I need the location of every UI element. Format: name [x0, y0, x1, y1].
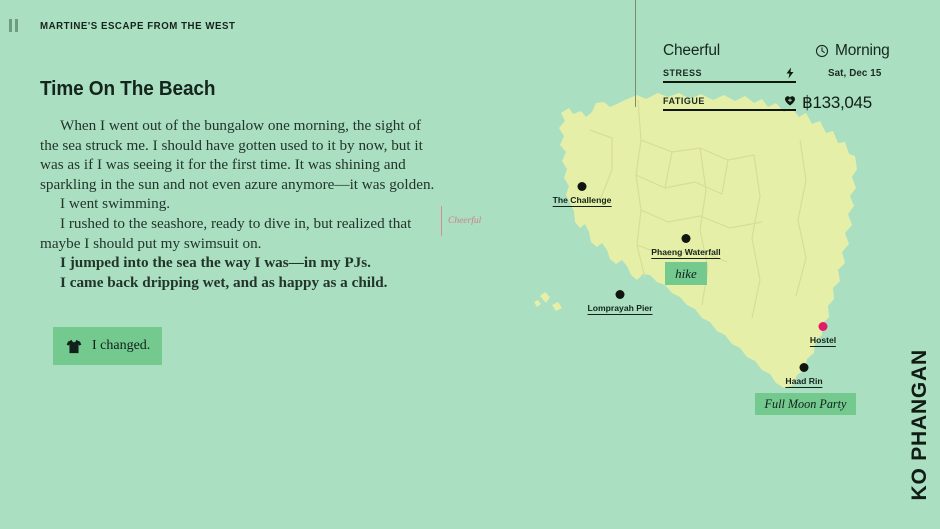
app-title: MARTINE'S ESCAPE FROM THE WEST	[40, 20, 235, 32]
map-poi-label[interactable]: Lomprayah Pier	[588, 303, 653, 315]
story-paragraph: When I went out of the bungalow one morn…	[40, 116, 440, 194]
map-poi-label[interactable]: Hostel	[810, 335, 836, 347]
map-poi-label[interactable]: Haad Rin	[785, 376, 822, 388]
time-of-day: Morning	[835, 42, 890, 60]
top-bar: MARTINE'S ESCAPE FROM THE WEST	[0, 0, 940, 44]
stat-stress-fill	[663, 81, 796, 83]
status-hud: Cheerful STRESS FATIGUE Morning	[663, 42, 928, 60]
action-button-i-changed[interactable]: I changed.	[53, 327, 162, 365]
mood-marker-label: Cheerful	[448, 216, 481, 226]
stat-fatigue-track	[663, 109, 796, 111]
story-body: When I went out of the bungalow one morn…	[40, 116, 440, 292]
money-balance: ฿133,045	[802, 93, 872, 113]
island-road-lines	[590, 100, 806, 318]
mood-marker-line	[441, 206, 442, 236]
map-poi-label[interactable]: Phaeng Waterfall	[651, 247, 720, 259]
tshirt-icon	[66, 339, 82, 354]
action-button-label: I changed.	[92, 338, 150, 354]
map-pin-dot	[800, 363, 809, 372]
map-action-full-moon-party[interactable]: Full Moon Party	[755, 393, 856, 415]
story-paragraph: I jumped into the sea the way I was—in m…	[40, 253, 440, 273]
lightning-icon	[784, 67, 796, 79]
pause-bar-right	[15, 19, 18, 32]
stat-stress[interactable]: STRESS	[663, 66, 796, 83]
map-pin-dot	[682, 234, 691, 243]
hud-divider-line	[635, 0, 636, 107]
stat-stress-track	[663, 81, 796, 83]
map-action-hike[interactable]: hike	[665, 262, 707, 285]
heart-icon	[784, 95, 796, 107]
map-pin-dot	[578, 182, 587, 191]
offshore-islets	[534, 292, 562, 311]
clock-icon	[815, 44, 829, 58]
date-label: Sat, Dec 15	[828, 68, 881, 79]
pause-bar-left	[9, 19, 12, 32]
page-title: Time On The Beach	[40, 78, 420, 101]
story-panel: Time On The Beach When I went out of the…	[40, 78, 440, 292]
story-paragraph: I went swimming.	[40, 194, 440, 214]
stat-fatigue-fill	[663, 109, 796, 111]
map-poi-label[interactable]: The Challenge	[553, 195, 612, 207]
pause-icon[interactable]	[9, 19, 20, 32]
story-paragraph: I rushed to the seashore, ready to dive …	[40, 214, 440, 253]
region-label: KO PHANGAN	[908, 349, 932, 501]
stat-stress-label: STRESS	[663, 68, 702, 78]
map-pin-dot	[616, 290, 625, 299]
time-of-day-row: Morning	[815, 42, 890, 60]
stat-fatigue[interactable]: FATIGUE	[663, 94, 796, 111]
stat-fatigue-label: FATIGUE	[663, 96, 705, 106]
story-paragraph: I came back dripping wet, and as happy a…	[40, 273, 440, 293]
current-location-dot	[819, 322, 828, 331]
